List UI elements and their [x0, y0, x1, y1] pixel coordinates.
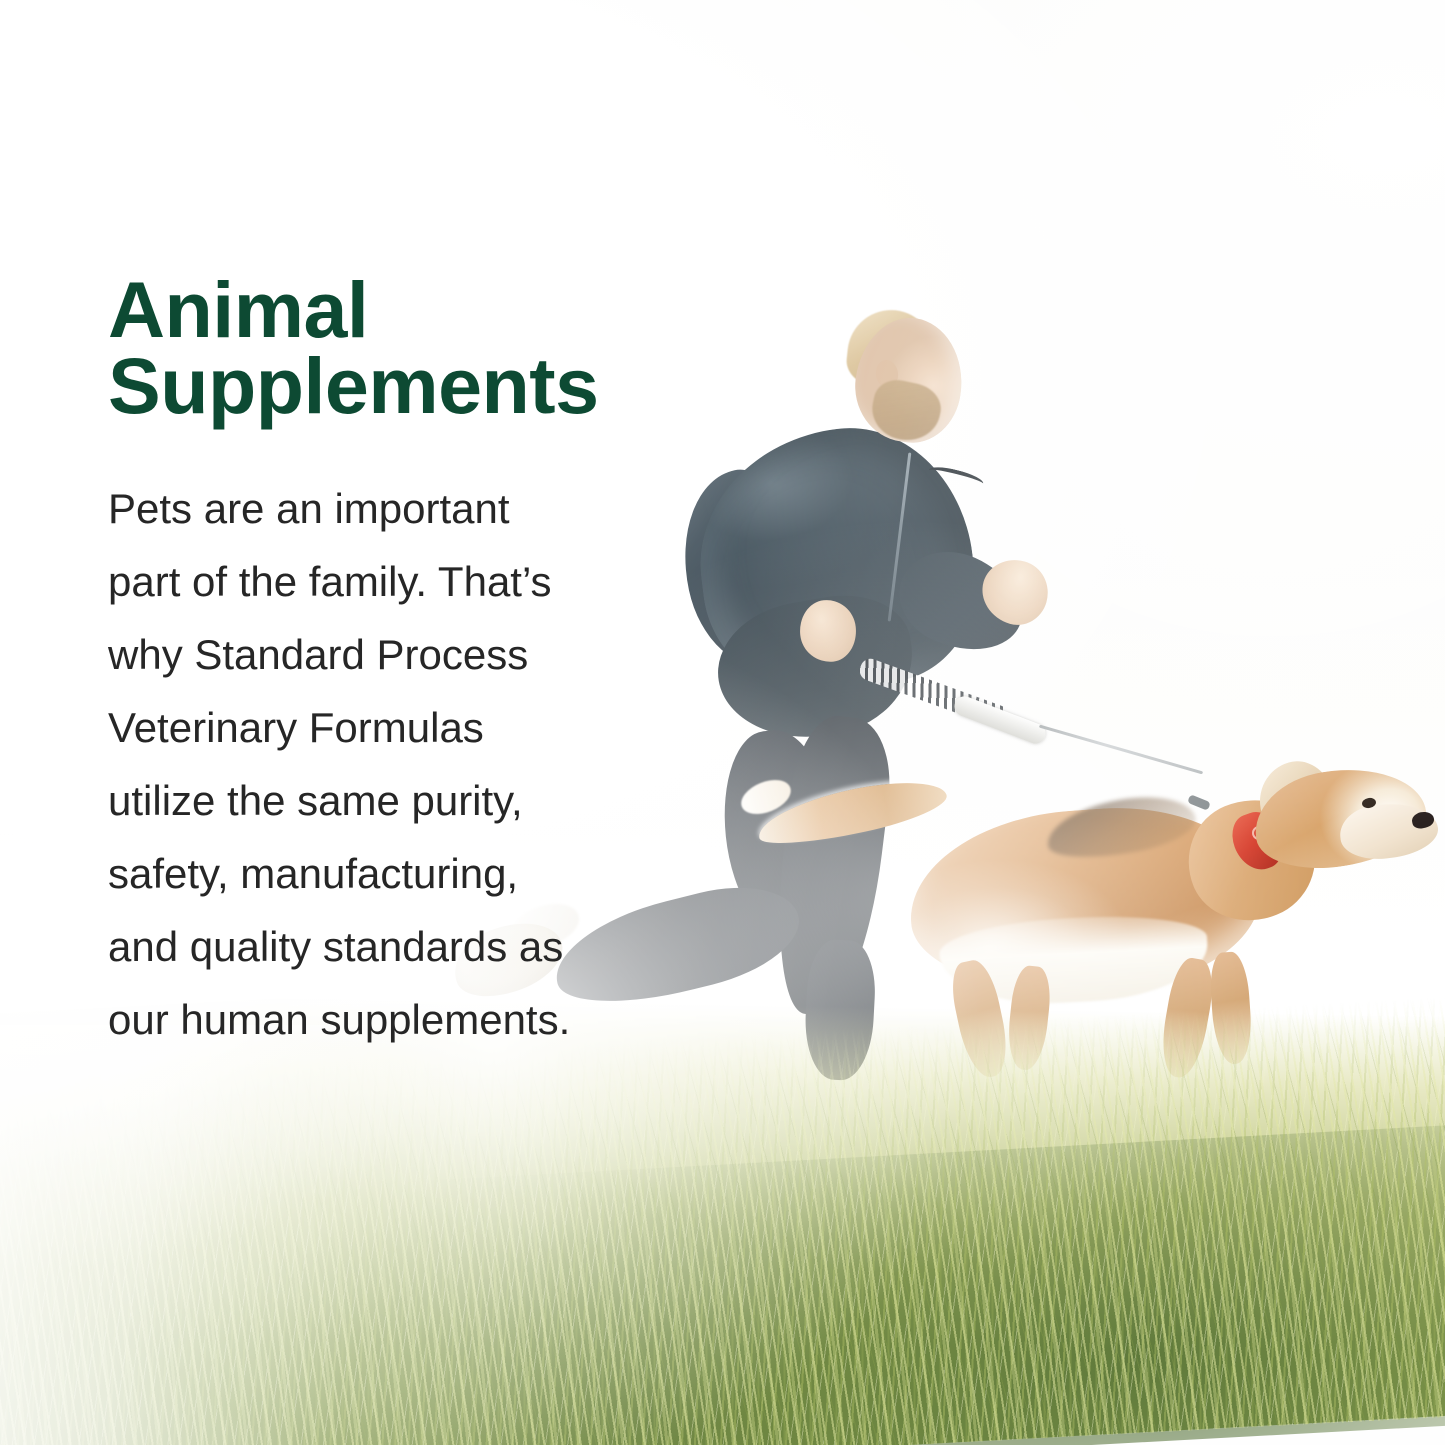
- body-line: our human supplements.: [108, 983, 668, 1056]
- body-paragraph: Pets are an important part of the family…: [108, 424, 668, 1056]
- body-line: part of the family. That’s: [108, 545, 668, 618]
- copy-block: Animal Supplements Pets are an important…: [108, 272, 668, 1056]
- body-line: safety, manufacturing,: [108, 837, 668, 910]
- body-line: Veterinary Formulas: [108, 691, 668, 764]
- body-line: why Standard Process: [108, 618, 668, 691]
- body-line: and quality standards as: [108, 910, 668, 983]
- page-title: Animal Supplements: [108, 272, 668, 424]
- animal-supplements-promo-panel: Animal Supplements Pets are an important…: [0, 0, 1445, 1445]
- page-title-line-2: Supplements: [108, 348, 668, 424]
- body-line: Pets are an important: [108, 472, 668, 545]
- grass-left-fade: [0, 1025, 560, 1445]
- body-line: utilize the same purity,: [108, 764, 668, 837]
